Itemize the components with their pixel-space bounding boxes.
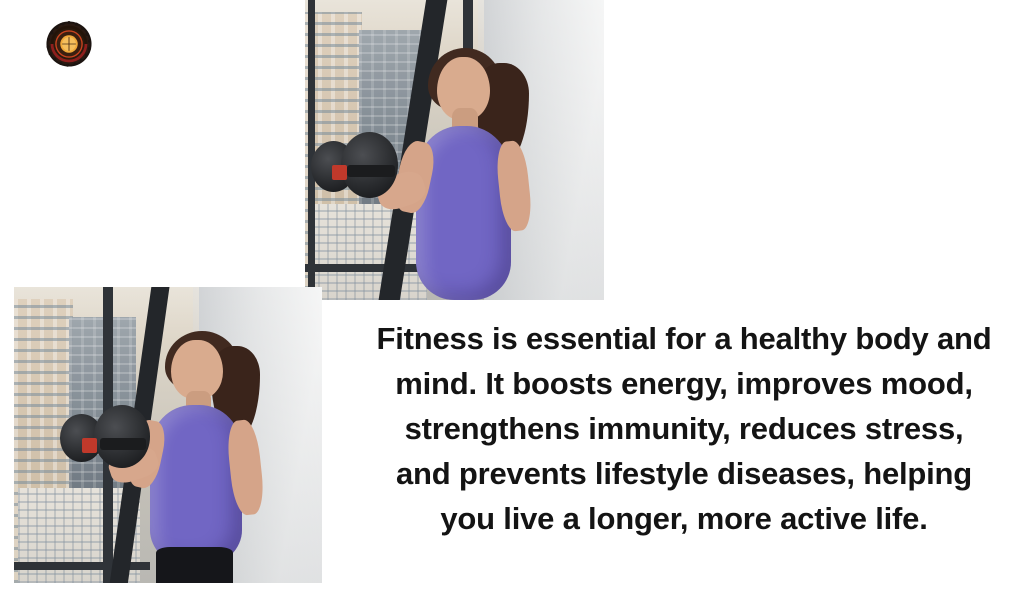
caption-text-block: Fitness is essential for a healthy body …	[352, 316, 1016, 541]
circular-brand-emblem-icon	[46, 21, 92, 67]
figure-woman	[305, 0, 604, 300]
caption-line: and prevents lifestyle diseases, helping	[352, 451, 1016, 496]
figure-woman	[14, 287, 322, 583]
caption-line: Fitness is essential for a healthy body …	[352, 316, 1016, 361]
brand-logo[interactable]	[46, 21, 92, 67]
caption-line: strengthens immunity, reduces stress,	[352, 406, 1016, 451]
photo-woman-dumbbell-curl-top	[305, 0, 604, 300]
photo-woman-dumbbell-curl-bottom	[14, 287, 322, 583]
caption-line: mind. It boosts energy, improves mood,	[352, 361, 1016, 406]
caption-line: you live a longer, more active life.	[352, 496, 1016, 541]
